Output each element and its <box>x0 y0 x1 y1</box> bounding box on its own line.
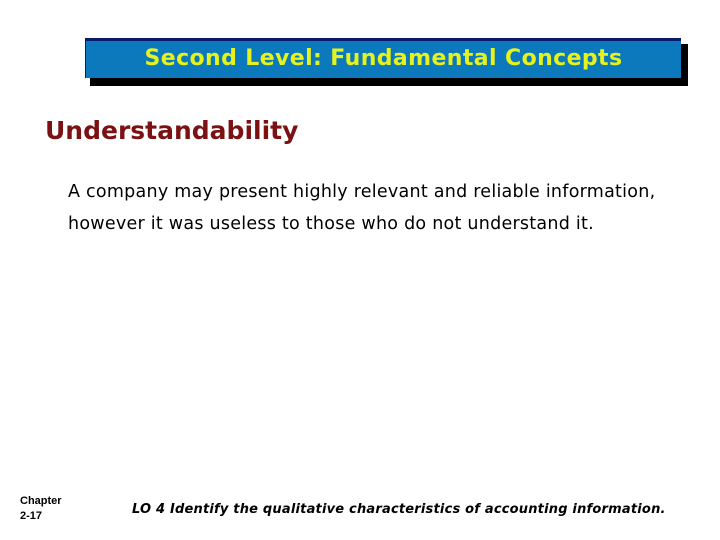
chapter-label: Chapter <box>20 494 62 509</box>
title-banner: Second Level: Fundamental Concepts <box>85 38 688 86</box>
slide-title: Second Level: Fundamental Concepts <box>145 48 623 70</box>
slide-canvas: Second Level: Fundamental Concepts Under… <box>0 0 720 540</box>
chapter-number: 2-17 <box>20 509 62 524</box>
learning-objective-footer: LO 4 Identify the qualitative characteri… <box>132 502 666 517</box>
body-paragraph: A company may present highly relevant an… <box>68 176 664 240</box>
title-banner-fill: Second Level: Fundamental Concepts <box>85 38 681 78</box>
section-heading: Understandability <box>45 117 298 145</box>
chapter-block: Chapter 2-17 <box>20 494 62 524</box>
